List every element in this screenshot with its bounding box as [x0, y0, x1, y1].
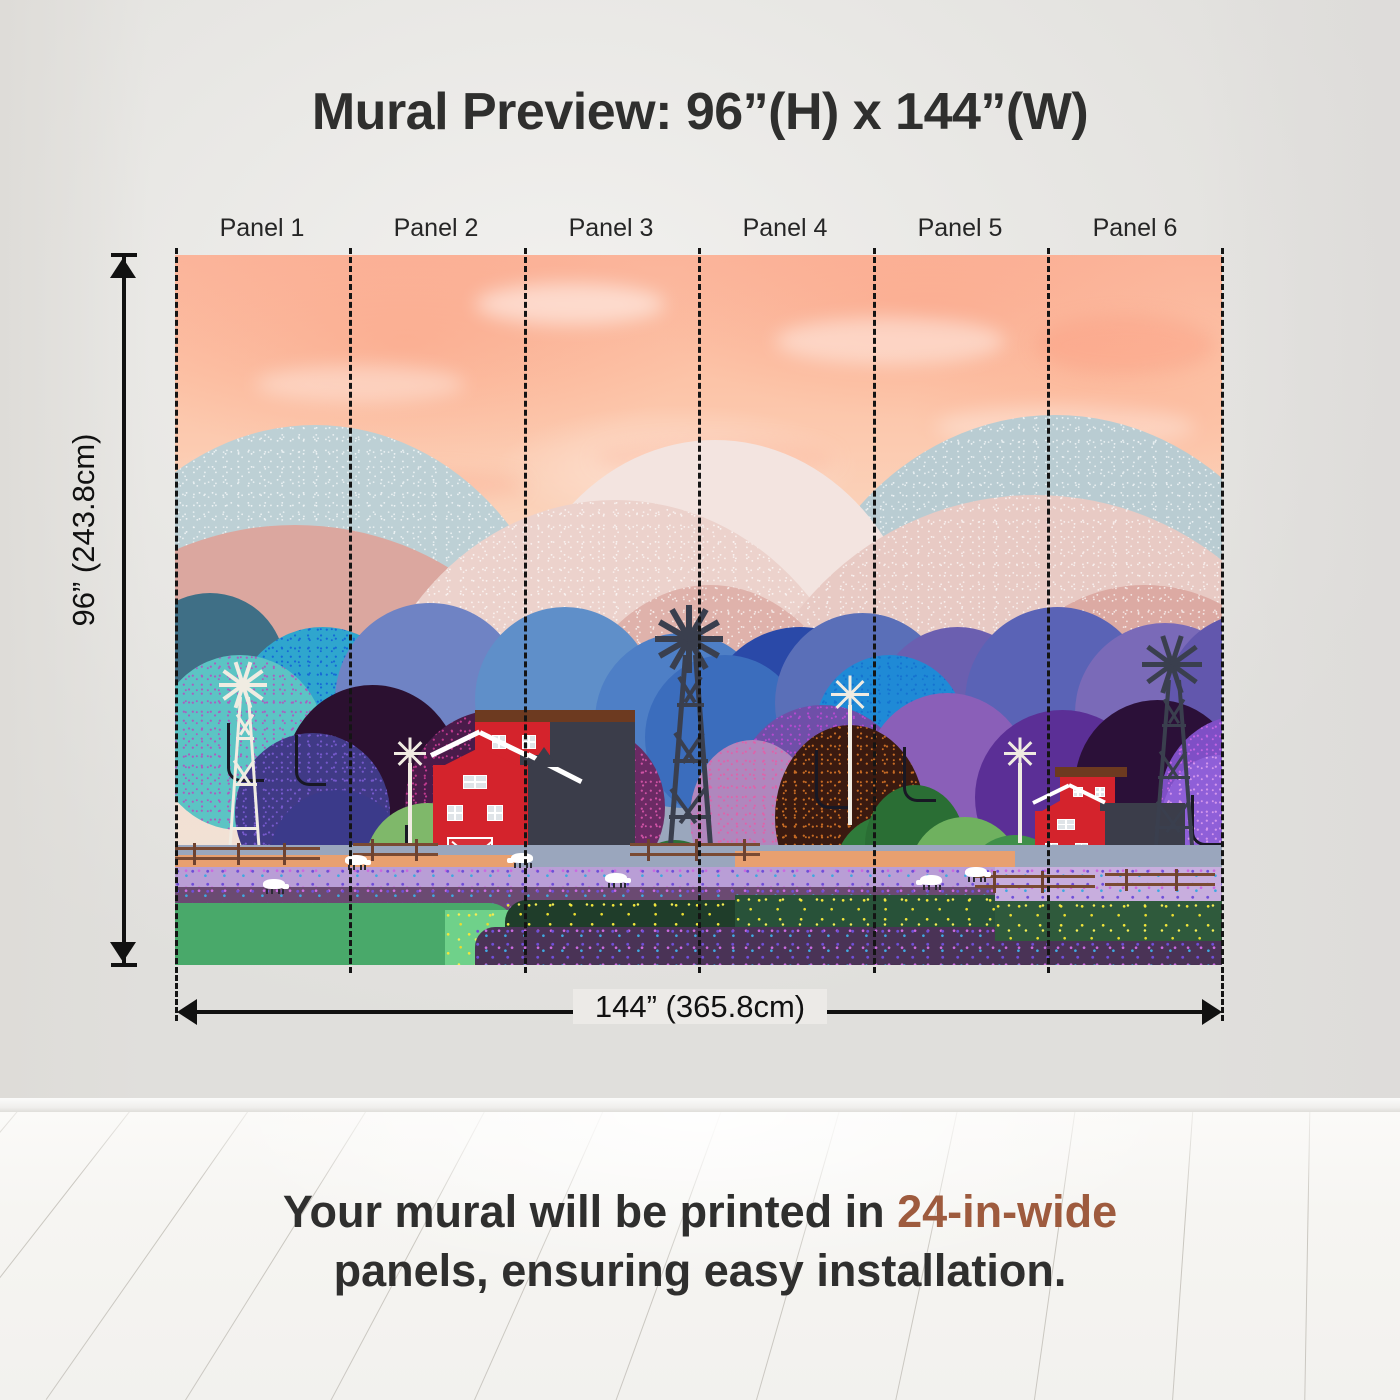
panel-label-4: Panel 4: [698, 214, 872, 243]
panel-label-5: Panel 5: [873, 214, 1047, 243]
dimension-line-vertical: [122, 255, 126, 965]
panel-divider-1: [349, 248, 352, 973]
panel-divider-3: [698, 248, 701, 973]
caption-accent: 24-in-wide: [897, 1186, 1117, 1237]
dimension-cap-bottom: [111, 963, 137, 967]
panel-divider-5: [1047, 248, 1050, 973]
panel-divider-edge-right: [1221, 248, 1224, 973]
wall-shadow-right: [1200, 0, 1400, 1112]
panel-label-row: Panel 1 Panel 2 Panel 3 Panel 4 Panel 5 …: [175, 214, 1222, 248]
panel-label-6: Panel 6: [1048, 214, 1222, 243]
panel-label-1: Panel 1: [175, 214, 349, 243]
cow: [263, 879, 289, 894]
height-dimension-label: 96” (243.8cm): [66, 400, 102, 660]
cow: [965, 867, 991, 882]
caption: Your mural will be printed in 24-in-wide…: [0, 1182, 1400, 1301]
arrow-down-icon: [110, 942, 136, 962]
width-dimension-label: 144” (365.8cm): [0, 989, 1400, 1025]
panel-divider-2: [524, 248, 527, 973]
page-title: Mural Preview: 96”(H) x 144”(W): [0, 82, 1400, 142]
panel-label-3: Panel 3: [524, 214, 698, 243]
cow: [605, 873, 631, 888]
panel-divider-edge-left: [175, 248, 178, 973]
mural-preview-page: Mural Preview: 96”(H) x 144”(W) Panel 1 …: [0, 0, 1400, 1400]
cow: [920, 875, 946, 890]
caption-line2: panels, ensuring easy installation.: [334, 1245, 1067, 1296]
panel-label-2: Panel 2: [349, 214, 523, 243]
panel-divider-4: [873, 248, 876, 973]
caption-line1-prefix: Your mural will be printed in: [283, 1186, 897, 1237]
